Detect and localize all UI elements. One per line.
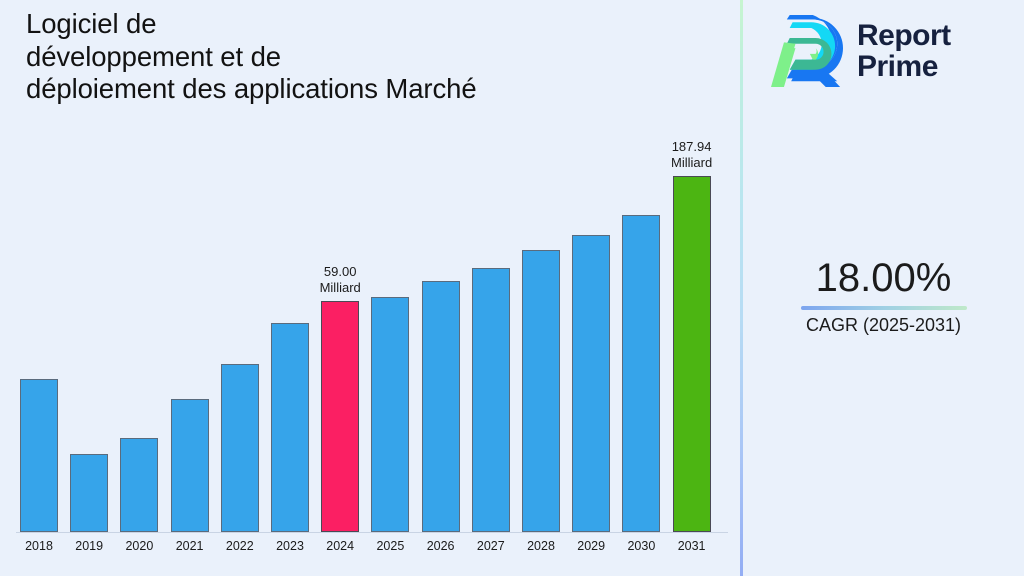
cagr-caption: CAGR (2025-2031): [743, 313, 1024, 337]
x-tick-2030: 2030: [616, 539, 666, 553]
bar-2024[interactable]: [321, 301, 359, 532]
bar-2030[interactable]: [622, 215, 660, 532]
x-tick-2023: 2023: [265, 539, 315, 553]
cagr-divider-rule: [801, 306, 967, 310]
x-tick-2027: 2027: [466, 539, 516, 553]
cagr-value: 18.00%: [743, 254, 1024, 302]
chart-panel: Logiciel de développement et de déploiem…: [0, 0, 740, 576]
x-tick-2024: 2024: [315, 539, 365, 553]
bar-2022[interactable]: [221, 364, 259, 532]
x-tick-2018: 2018: [14, 539, 64, 553]
bar-2018[interactable]: [20, 379, 58, 532]
x-axis-line: [16, 532, 728, 533]
bar-2023[interactable]: [271, 323, 309, 532]
bar-2028[interactable]: [522, 250, 560, 532]
cagr-block: 18.00% CAGR (2025-2031): [743, 254, 1024, 337]
brand-logo-text: Report Prime: [857, 20, 951, 82]
report-prime-logo-icon: [771, 12, 843, 90]
bar-2020[interactable]: [120, 438, 158, 532]
x-tick-2029: 2029: [566, 539, 616, 553]
bar-2027[interactable]: [472, 268, 510, 532]
brand-logo: Report Prime: [771, 12, 951, 90]
chart-page: Logiciel de développement et de déploiem…: [0, 0, 1024, 576]
bar-2019[interactable]: [70, 454, 108, 532]
bar-value-label-2024: 59.00 Milliard: [290, 264, 390, 295]
x-tick-2031: 2031: [667, 539, 717, 553]
x-tick-2026: 2026: [416, 539, 466, 553]
info-panel: Report Prime 18.00% CAGR (2025-2031): [743, 0, 1024, 576]
x-tick-2022: 2022: [215, 539, 265, 553]
bar-2026[interactable]: [422, 281, 460, 532]
bar-plot: 201820192020202120222023202459.00 Millia…: [0, 0, 740, 576]
bar-2031[interactable]: [673, 176, 711, 532]
x-tick-2025: 2025: [365, 539, 415, 553]
x-tick-2021: 2021: [165, 539, 215, 553]
x-tick-2028: 2028: [516, 539, 566, 553]
bar-2021[interactable]: [171, 399, 209, 532]
x-tick-2020: 2020: [114, 539, 164, 553]
bar-2029[interactable]: [572, 235, 610, 532]
bar-value-label-2031: 187.94 Milliard: [642, 139, 742, 170]
bar-2025[interactable]: [371, 297, 409, 532]
x-tick-2019: 2019: [64, 539, 114, 553]
